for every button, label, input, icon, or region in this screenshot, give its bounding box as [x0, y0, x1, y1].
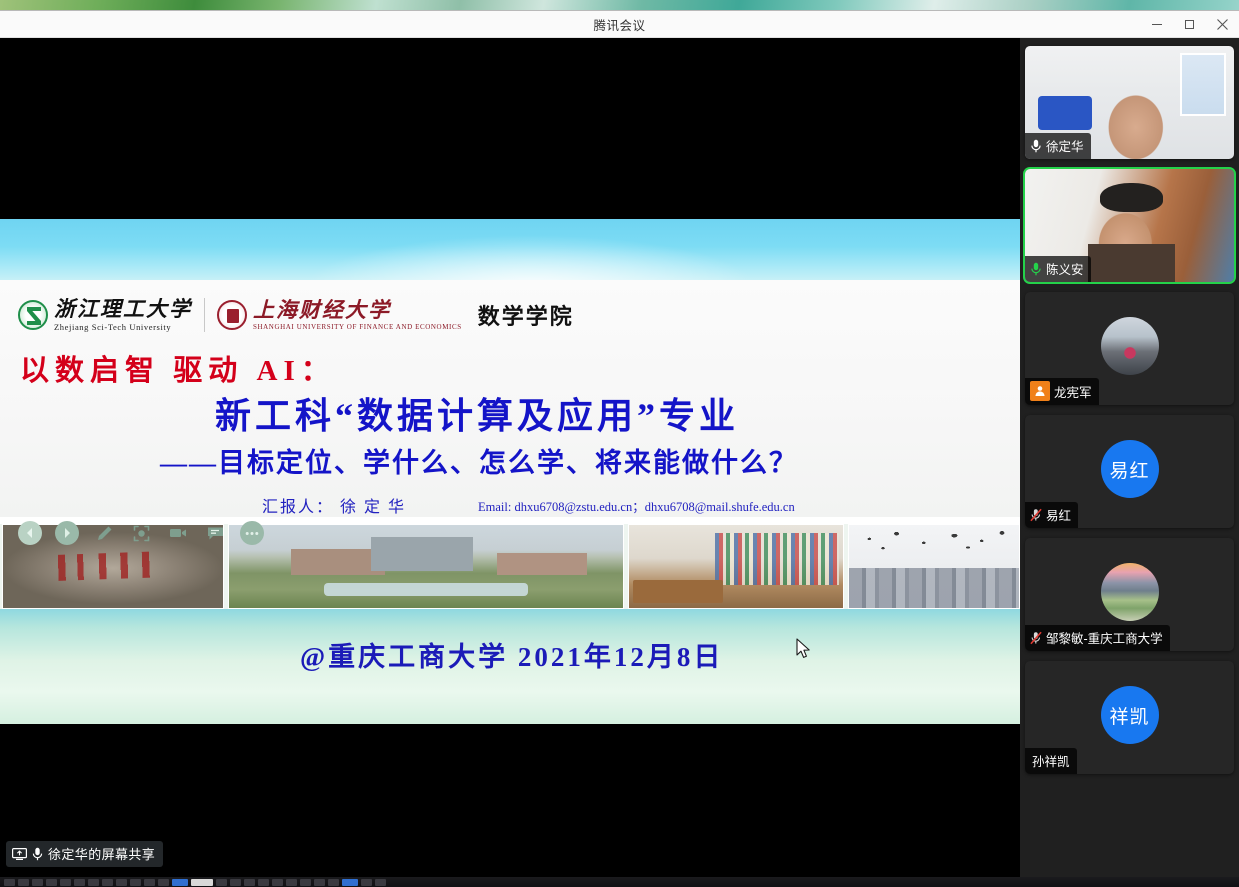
comment-button[interactable]: [203, 521, 227, 545]
participant-name-badge: 陈义安: [1025, 256, 1091, 282]
slide-footer-date: @重庆工商大学 2021年12月8日: [300, 635, 723, 674]
taskbar-item[interactable]: [244, 879, 255, 886]
taskbar-item[interactable]: [158, 879, 169, 886]
taskbar-item[interactable]: [116, 879, 127, 886]
slide-sky-band: [0, 219, 1020, 280]
taskbar-item[interactable]: [4, 879, 15, 886]
microphone-active-icon: [1030, 262, 1042, 276]
participant-tile-zoulimin[interactable]: 邹黎敏-重庆工商大学: [1025, 538, 1234, 651]
video-camera-icon: [169, 526, 187, 540]
chevron-left-icon: [25, 528, 35, 538]
taskbar-item-active[interactable]: [342, 879, 358, 886]
shufe-logo-text: 上海财经大学 SHANGHAI UNIVERSITY OF FINANCE AN…: [253, 299, 462, 330]
participant-avatar-initial: 祥凯: [1101, 686, 1159, 744]
taskbar-item[interactable]: [300, 879, 311, 886]
windows-taskbar[interactable]: [0, 877, 1239, 887]
close-icon: [1217, 19, 1228, 30]
meeting-body: 浙江理工大学 Zhejiang Sci-Tech University 上海财经…: [0, 38, 1239, 877]
zstu-logo-text: 浙江理工大学 Zhejiang Sci-Tech University: [54, 298, 192, 331]
taskbar-item[interactable]: [130, 879, 141, 886]
department-name: 数学学院: [478, 299, 574, 331]
participant-name: 徐定华: [1046, 136, 1084, 155]
taskbar-item[interactable]: [46, 879, 57, 886]
participant-name-badge: 龙宪军: [1025, 378, 1099, 405]
taskbar-item-active[interactable]: [172, 879, 188, 886]
participant-tile-yihong[interactable]: 易红 易红: [1025, 415, 1234, 528]
slide-title-line-1: 以数启智 驱动 AI：: [20, 347, 336, 389]
shufe-name-en: SHANGHAI UNIVERSITY OF FINANCE AND ECONO…: [253, 323, 462, 331]
campus-plaza-photo: [228, 524, 624, 609]
shufe-logo-icon: [217, 300, 247, 330]
zstu-logo-icon: [18, 300, 48, 330]
slide-green-band: @重庆工商大学 2021年12月8日: [0, 609, 1020, 724]
participant-tile-xudinghua[interactable]: 徐定华: [1025, 46, 1234, 159]
taskbar-item[interactable]: [258, 879, 269, 886]
window-titlebar: 腾讯会议: [0, 11, 1239, 38]
taskbar-item[interactable]: [18, 879, 29, 886]
taskbar-item[interactable]: [230, 879, 241, 886]
more-options-button[interactable]: [240, 521, 264, 545]
participant-name: 易红: [1046, 505, 1071, 524]
zstu-name-en: Zhejiang Sci-Tech University: [54, 322, 192, 332]
letterbox-top: [0, 38, 1020, 219]
slide-title-line-2: 新工科“数据计算及应用”专业: [215, 387, 739, 439]
screen-share-label: 徐定华的屏幕共享: [48, 844, 155, 863]
taskbar-item[interactable]: [32, 879, 43, 886]
slide-presenter: 汇报人： 徐 定 华: [262, 493, 406, 517]
next-slide-button[interactable]: [55, 521, 79, 545]
pen-icon: [96, 525, 113, 542]
pointer-focus-icon: [133, 525, 150, 542]
taskbar-item[interactable]: [328, 879, 339, 886]
tencent-meeting-window: 腾讯会议 浙江理工大学: [0, 11, 1239, 877]
taskbar-item[interactable]: [60, 879, 71, 886]
ppt-presenter-toolbar[interactable]: [18, 521, 264, 545]
participant-name: 龙宪军: [1054, 382, 1092, 401]
taskbar-item[interactable]: [314, 879, 325, 886]
participant-avatar: [1101, 563, 1159, 621]
video-button[interactable]: [166, 521, 190, 545]
laser-pointer-button[interactable]: [129, 521, 153, 545]
taskbar-item[interactable]: [102, 879, 113, 886]
participant-tile-sunxiangkai[interactable]: 祥凯 孙祥凯: [1025, 661, 1234, 774]
taskbar-item[interactable]: [191, 879, 213, 886]
screen-share-badge: 徐定华的屏幕共享: [6, 841, 163, 867]
participant-name-badge: 孙祥凯: [1025, 748, 1077, 774]
microphone-icon: [32, 847, 43, 861]
taskbar-item[interactable]: [361, 879, 372, 886]
zstu-name-cn: 浙江理工大学: [54, 298, 192, 320]
microphone-icon: [1030, 139, 1042, 153]
previous-slide-button[interactable]: [18, 521, 42, 545]
taskbar-item[interactable]: [74, 879, 85, 886]
participant-name-badge: 易红: [1025, 502, 1078, 528]
participant-name-badge: 邹黎敏-重庆工商大学: [1025, 625, 1170, 651]
minimize-button[interactable]: [1140, 11, 1173, 38]
shufe-name-cn: 上海财经大学: [253, 299, 462, 321]
presentation-slide: 浙江理工大学 Zhejiang Sci-Tech University 上海财经…: [0, 219, 1020, 724]
slide-subtitle: ——目标定位、学什么、怎么学、将来能做什么？: [160, 441, 798, 480]
chevron-right-icon: [62, 528, 72, 538]
taskbar-item[interactable]: [144, 879, 155, 886]
maximize-button[interactable]: [1173, 11, 1206, 38]
participant-name: 邹黎敏-重庆工商大学: [1046, 628, 1163, 647]
ellipsis-icon: [245, 531, 259, 536]
window-controls: [1140, 11, 1239, 38]
graduation-photo: [848, 524, 1020, 609]
host-person-icon: [1030, 381, 1050, 401]
taskbar-item[interactable]: [216, 879, 227, 886]
close-button[interactable]: [1206, 11, 1239, 38]
participant-tile-chenyian[interactable]: 陈义安: [1025, 169, 1234, 282]
participant-name: 陈义安: [1046, 259, 1084, 278]
participants-sidebar[interactable]: 徐定华 陈义安: [1020, 38, 1239, 877]
taskbar-item[interactable]: [88, 879, 99, 886]
pen-annotate-button[interactable]: [92, 521, 116, 545]
microphone-muted-icon: [1030, 631, 1042, 645]
taskbar-item[interactable]: [286, 879, 297, 886]
participant-tile-longxianjun[interactable]: 龙宪军: [1025, 292, 1234, 405]
comment-icon: [207, 526, 224, 541]
shared-screen-area[interactable]: 浙江理工大学 Zhejiang Sci-Tech University 上海财经…: [0, 38, 1020, 877]
screen-share-icon: [12, 848, 27, 860]
participant-name: 孙祥凯: [1032, 751, 1070, 770]
taskbar-item[interactable]: [375, 879, 386, 886]
slide-email: Email: dhxu6708@zstu.edu.cn；dhxu6708@mai…: [478, 496, 795, 515]
microphone-muted-icon: [1030, 508, 1042, 522]
participant-avatar: [1101, 317, 1159, 375]
slide-logos-row: 浙江理工大学 Zhejiang Sci-Tech University 上海财经…: [18, 295, 658, 335]
participant-name-badge: 徐定华: [1025, 133, 1091, 159]
library-photo: [628, 524, 844, 609]
window-title: 腾讯会议: [593, 15, 645, 34]
taskbar-item[interactable]: [272, 879, 283, 886]
logo-divider: [204, 298, 205, 332]
participant-avatar-initial: 易红: [1101, 440, 1159, 498]
